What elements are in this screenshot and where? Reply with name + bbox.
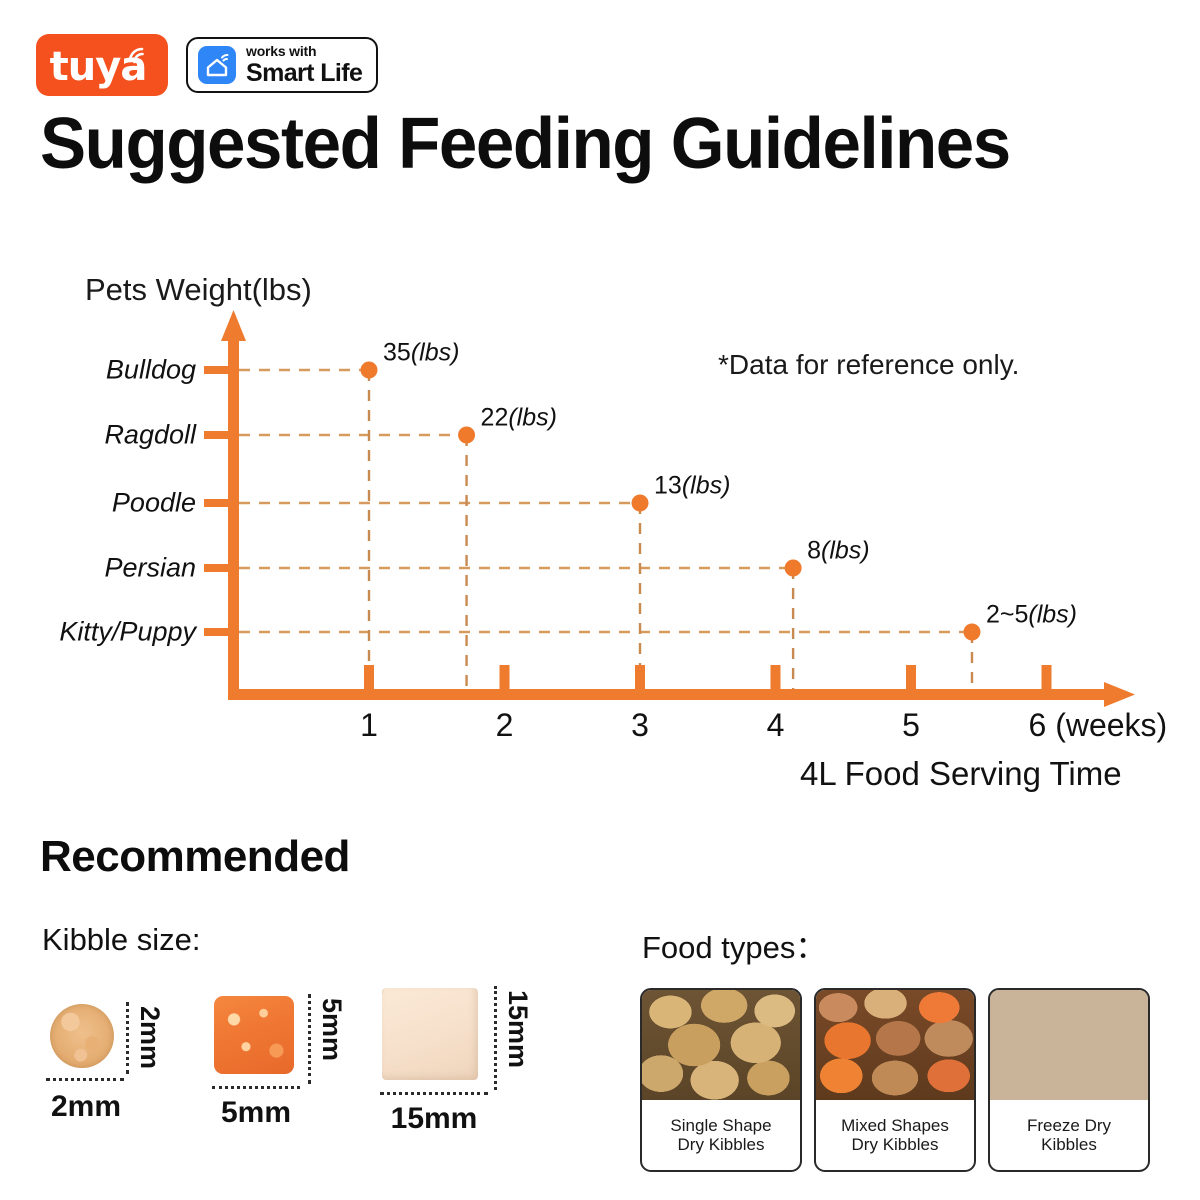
food-type-line2: Dry Kibbles xyxy=(678,1135,765,1154)
kibble-width-label: 15mm xyxy=(391,1102,478,1136)
data-point-label: 13(lbs) xyxy=(654,472,730,501)
y-axis-label: Kitty/Puppy xyxy=(59,617,196,648)
y-axis-label: Bulldog xyxy=(106,355,196,386)
x-axis-tick-label: 1 xyxy=(360,707,378,744)
mixed-shapes-kibble-photo xyxy=(816,990,974,1100)
page-title: Suggested Feeding Guidelines xyxy=(40,103,1010,185)
x-axis-tick-label: 6 (weeks) xyxy=(1029,707,1168,744)
square-kibble-shape xyxy=(214,996,294,1074)
single-shape-kibble-photo xyxy=(642,990,800,1100)
food-type-line1: Mixed Shapes xyxy=(841,1116,949,1135)
food-type-caption: Single ShapeDry Kibbles xyxy=(642,1100,800,1170)
chart-grid xyxy=(239,370,972,691)
chart-canvas xyxy=(0,255,1200,800)
food-type-line2: Dry Kibbles xyxy=(852,1135,939,1154)
x-axis-tick-label: 3 xyxy=(631,707,649,744)
food-type-card[interactable]: Single ShapeDry Kibbles xyxy=(640,988,802,1172)
food-type-caption: Freeze DryKibbles xyxy=(990,1100,1148,1170)
recommended-heading: Recommended xyxy=(40,832,350,882)
tuya-logo: tuya xyxy=(36,34,168,96)
food-type-line2: Kibbles xyxy=(1041,1135,1097,1154)
kibble-height-guide xyxy=(494,986,497,1090)
square-kibble-shape xyxy=(382,988,478,1080)
kibble-height-label: 5mm xyxy=(316,998,347,1061)
works-with-smart-life-badge: works with Smart Life xyxy=(186,37,378,93)
y-axis-label: Persian xyxy=(104,553,196,584)
data-point-label: 8(lbs) xyxy=(807,537,870,566)
food-type-card[interactable]: Freeze DryKibbles xyxy=(988,988,1150,1172)
y-axis-label: Poodle xyxy=(112,488,196,519)
chart-note: *Data for reference only. xyxy=(718,349,1019,381)
chart-points xyxy=(361,362,981,641)
x-axis-tick-label: 5 xyxy=(902,707,920,744)
kibble-height-label: 2mm xyxy=(134,1006,165,1069)
food-type-card[interactable]: Mixed ShapesDry Kibbles xyxy=(814,988,976,1172)
food-type-line1: Freeze Dry xyxy=(1027,1116,1111,1135)
wifi-arc-icon xyxy=(126,45,150,67)
chart-ticks xyxy=(204,366,1052,693)
kibble-width-label: 2mm xyxy=(51,1090,121,1124)
feeding-guidelines-page: tuya works with Smart Life Suggested Fee… xyxy=(0,0,1200,1200)
data-point-label: 35(lbs) xyxy=(383,339,459,368)
y-axis-label: Ragdoll xyxy=(104,420,196,451)
kibble-width-guide xyxy=(46,1078,124,1081)
data-point-label: 22(lbs) xyxy=(481,404,557,433)
freeze-dry-kibble-photo xyxy=(990,990,1148,1100)
x-axis-title: 4L Food Serving Time xyxy=(800,755,1122,793)
feeding-chart: Pets Weight(lbs) *Data for reference onl… xyxy=(0,255,1200,800)
food-type-line1: Single Shape xyxy=(670,1116,771,1135)
smart-home-wifi-icon xyxy=(198,46,236,84)
kibble-width-guide xyxy=(380,1092,488,1095)
round-kibble-shape xyxy=(50,1004,114,1068)
kibble-width-label: 5mm xyxy=(221,1096,291,1130)
kibble-height-guide xyxy=(308,994,311,1084)
food-types-heading: Food types： xyxy=(642,922,826,967)
kibble-size-heading: Kibble size: xyxy=(42,922,201,958)
smart-life-label: Smart Life xyxy=(246,61,362,86)
kibble-width-guide xyxy=(212,1086,300,1089)
data-point-label: 2~5(lbs) xyxy=(986,601,1077,630)
y-axis-title: Pets Weight(lbs) xyxy=(85,272,312,308)
x-axis-tick-label: 4 xyxy=(767,707,785,744)
kibble-height-label: 15mm xyxy=(502,990,533,1068)
food-type-caption: Mixed ShapesDry Kibbles xyxy=(816,1100,974,1170)
x-axis-tick-label: 2 xyxy=(496,707,514,744)
kibble-height-guide xyxy=(126,1002,129,1074)
brand-badges: tuya works with Smart Life xyxy=(36,34,378,96)
works-with-label: works with xyxy=(246,44,362,58)
